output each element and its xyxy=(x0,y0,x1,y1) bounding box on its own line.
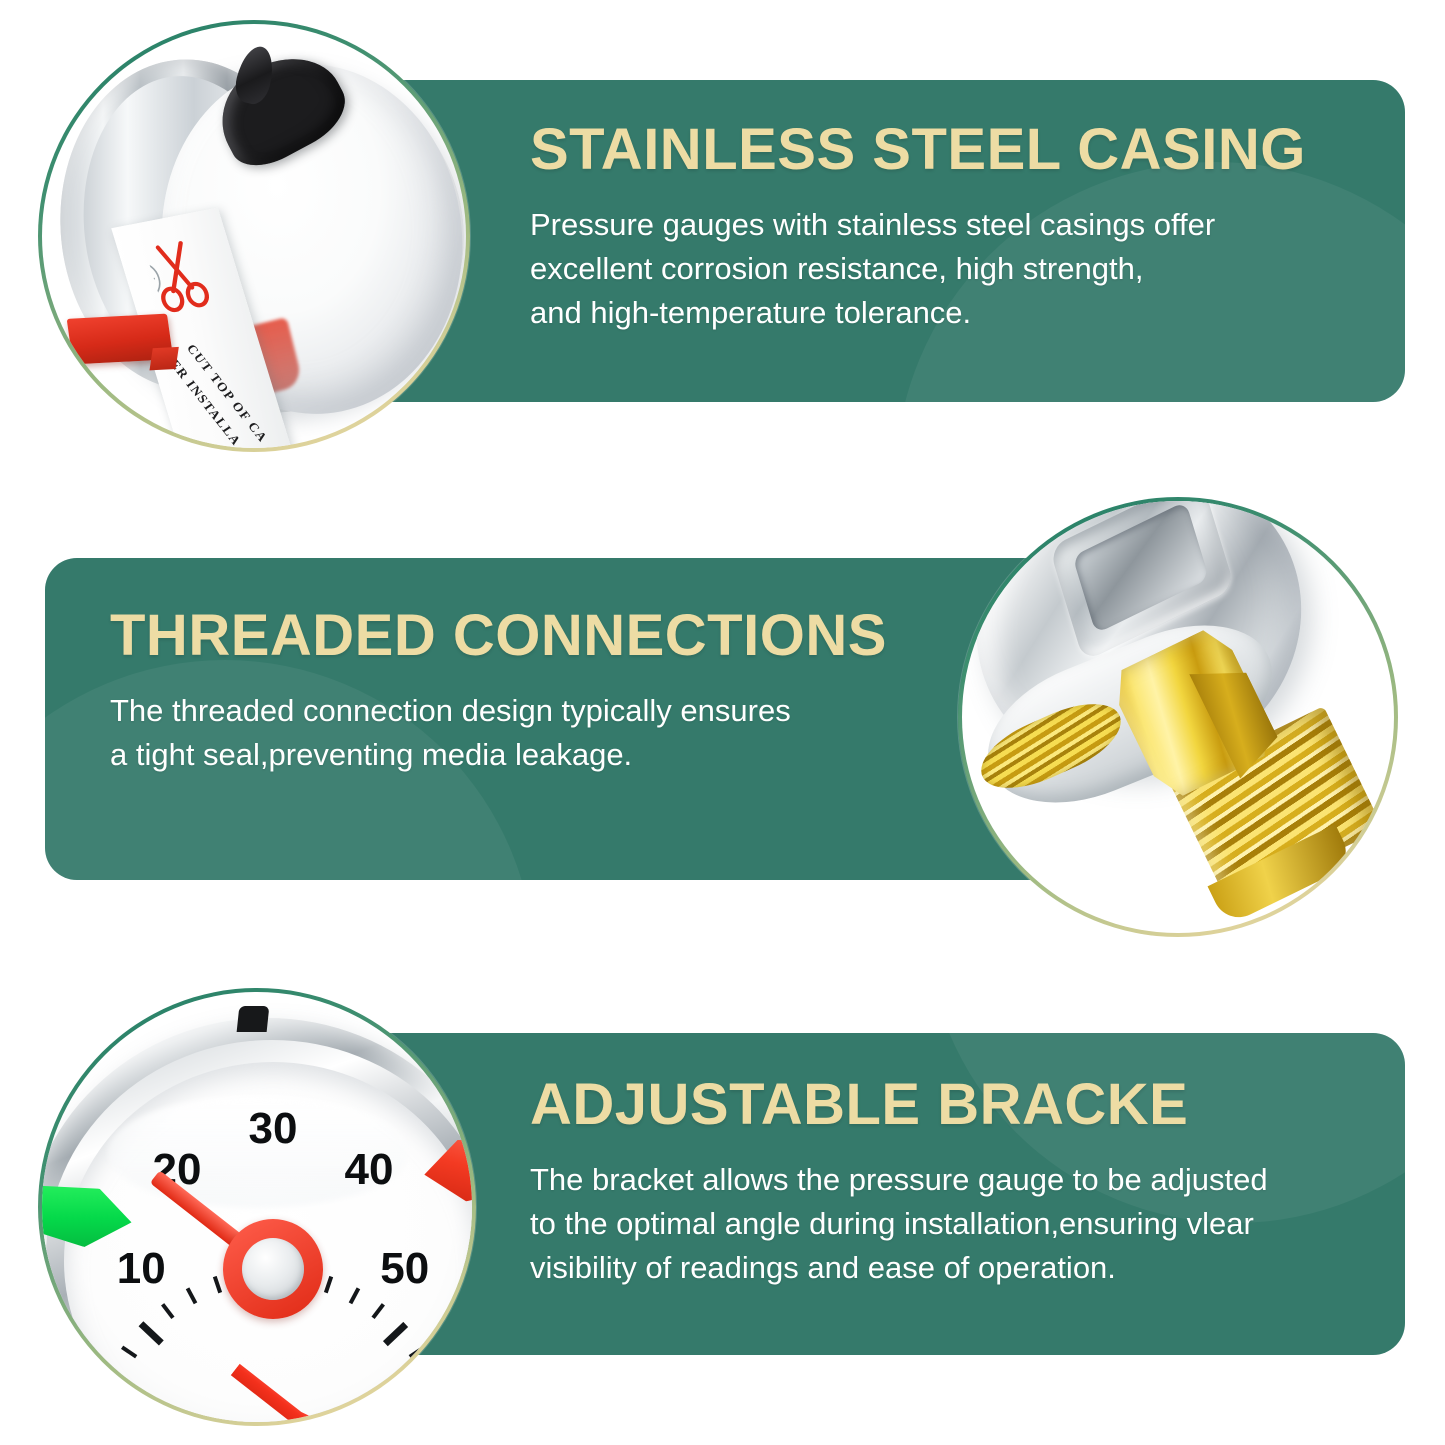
feature-description-line: The threaded connection design typically… xyxy=(110,689,887,733)
gauge-scale-number: 10 xyxy=(117,1244,166,1294)
photo-frame xyxy=(962,501,1394,933)
scissors-icon xyxy=(144,237,214,315)
feature-title: THREADED CONNECTIONS xyxy=(110,606,887,667)
feature-description: Pressure gauges with stainless steel cas… xyxy=(530,203,1306,335)
photo-frame: 1020304050 xyxy=(42,992,472,1422)
feature-text-block: ADJUSTABLE BRACKE The bracket allows the… xyxy=(530,1075,1268,1290)
feature-text-block: THREADED CONNECTIONS The threaded connec… xyxy=(110,606,887,777)
feature-description-line: a tight seal,preventing media leakage. xyxy=(110,733,887,777)
red-pull-tab xyxy=(67,314,174,365)
infographic-canvas: STAINLESS STEEL CASING Pressure gauges w… xyxy=(0,0,1445,1445)
gauge-scale-number: 50 xyxy=(380,1244,429,1294)
feature-description: The threaded connection design typically… xyxy=(110,689,887,777)
gauge-top-stem xyxy=(237,1006,270,1032)
gauge-scale-number: 40 xyxy=(345,1145,394,1195)
feature-text-block: STAINLESS STEEL CASING Pressure gauges w… xyxy=(530,120,1306,335)
product-photo-gauge-dial: 1020304050 xyxy=(38,988,476,1426)
feature-panel-threaded-connections: THREADED CONNECTIONS The threaded connec… xyxy=(45,558,1113,880)
gauge-scale-number: 30 xyxy=(249,1104,298,1154)
feature-description-line: and high-temperature tolerance. xyxy=(530,291,1306,335)
feature-description-line: The bracket allows the pressure gauge to… xyxy=(530,1158,1268,1202)
feature-title: ADJUSTABLE BRACKE xyxy=(530,1075,1268,1136)
gauge-needle-hub-cap xyxy=(242,1238,304,1300)
product-photo-threaded-connection xyxy=(958,497,1398,937)
photo-frame: AFTER INSTALLA CUT TOP OF CA xyxy=(42,24,466,448)
feature-description-line: to the optimal angle during installation… xyxy=(530,1202,1268,1246)
product-photo-stainless-casing: AFTER INSTALLA CUT TOP OF CA xyxy=(38,20,470,452)
feature-description: The bracket allows the pressure gauge to… xyxy=(530,1158,1268,1290)
feature-description-line: visibility of readings and ease of opera… xyxy=(530,1246,1268,1290)
feature-description-line: excellent corrosion resistance, high str… xyxy=(530,247,1306,291)
feature-description-line: Pressure gauges with stainless steel cas… xyxy=(530,203,1306,247)
feature-title: STAINLESS STEEL CASING xyxy=(530,120,1306,181)
